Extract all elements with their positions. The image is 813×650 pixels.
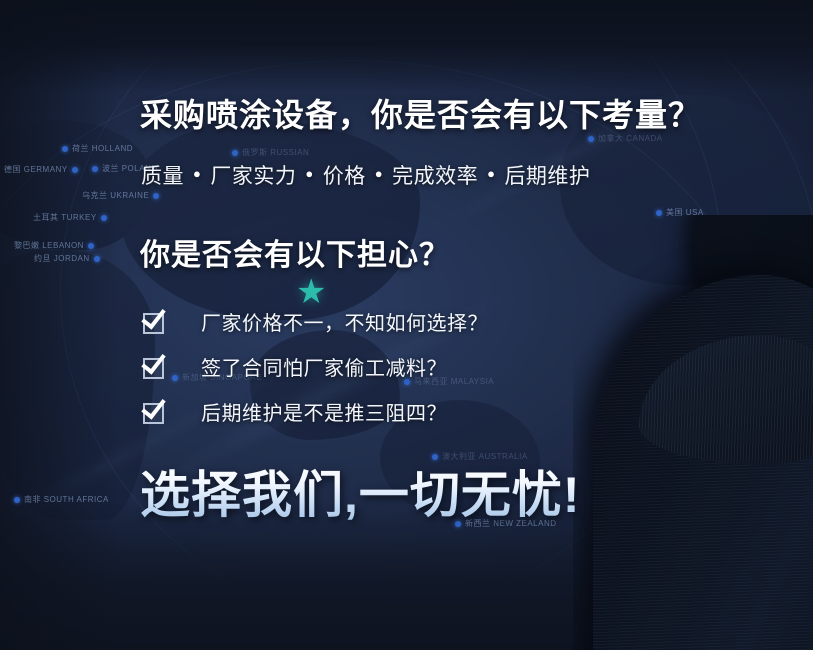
page-title: 采购喷涂设备，你是否会有以下考量？ xyxy=(140,90,701,136)
feature-item: 质量 xyxy=(141,160,184,190)
bullet-separator-icon: ● xyxy=(193,166,201,181)
promo-banner: 荷兰 HOLLAND波兰 POLAND德国 GERMANY乌克兰 UKRAINE… xyxy=(0,0,813,650)
feature-item: 后期维护 xyxy=(504,160,590,190)
banner-content: 采购喷涂设备，你是否会有以下考量？ 质量●厂家实力●价格●完成效率●后期维护 你… xyxy=(0,0,813,650)
section-title-concerns: 你是否会有以下担心？ xyxy=(140,230,450,274)
feature-item: 厂家实力 xyxy=(210,160,296,190)
slogan-text: 选择我们,一切无忧! xyxy=(140,455,581,527)
concern-checklist: 厂家价格不一，不知如何选择？签了合同怕厂家偷工减料？后期维护是不是推三阻四？ xyxy=(143,302,488,437)
bullet-separator-icon: ● xyxy=(305,166,313,181)
feature-item: 完成效率 xyxy=(392,160,478,190)
checklist-item: 后期维护是不是推三阻四？ xyxy=(143,392,488,430)
bullet-separator-icon: ● xyxy=(375,166,383,181)
feature-item: 价格 xyxy=(323,160,366,190)
checklist-item: 签了合同怕厂家偷工减料？ xyxy=(143,347,488,385)
checklist-item: 厂家价格不一，不知如何选择？ xyxy=(143,302,488,340)
checklist-item-label: 厂家价格不一，不知如何选择？ xyxy=(201,307,488,336)
checkbox-checked-icon xyxy=(143,310,165,332)
checkbox-checked-icon xyxy=(143,400,165,422)
checklist-item-label: 签了合同怕厂家偷工减料？ xyxy=(201,352,447,381)
feature-list: 质量●厂家实力●价格●完成效率●后期维护 xyxy=(141,160,590,190)
checklist-item-label: 后期维护是不是推三阻四？ xyxy=(201,397,447,426)
bullet-separator-icon: ● xyxy=(487,166,495,181)
checkbox-checked-icon xyxy=(143,355,165,377)
